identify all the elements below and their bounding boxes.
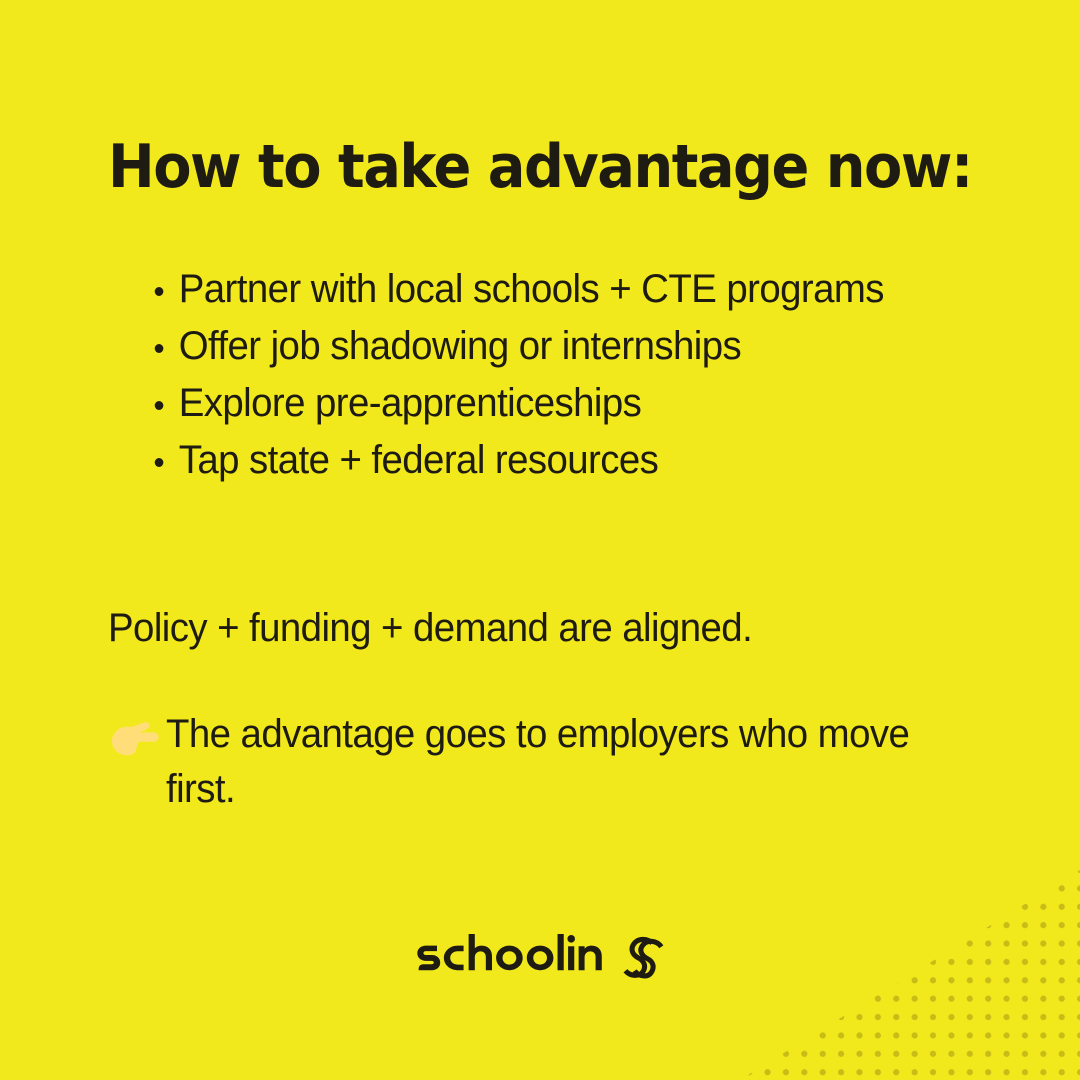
- list-item: Partner with local schools + CTE program…: [148, 262, 945, 317]
- advantage-bullet-list: Partner with local schools + CTE program…: [148, 262, 978, 490]
- list-item: Explore pre-apprenticeships: [148, 376, 945, 431]
- callout-text: The advantage goes to employers who move…: [166, 707, 955, 817]
- pointing-hand-right-icon: [108, 713, 166, 769]
- body-statement: Policy + funding + demand are aligned.: [108, 601, 972, 656]
- list-item: Offer job shadowing or internships: [148, 319, 945, 374]
- social-card-slide: How to take advantage now: Partner with …: [0, 0, 1080, 1080]
- schoolinks-s-link-mark-icon: [619, 933, 665, 979]
- page-title: How to take advantage now:: [108, 136, 945, 199]
- closing-callout: The advantage goes to employers who move…: [108, 707, 988, 817]
- list-item: Tap state + federal resources: [148, 433, 945, 488]
- schoolinks-wordmark: [415, 934, 608, 978]
- brand-logo: [0, 925, 1080, 987]
